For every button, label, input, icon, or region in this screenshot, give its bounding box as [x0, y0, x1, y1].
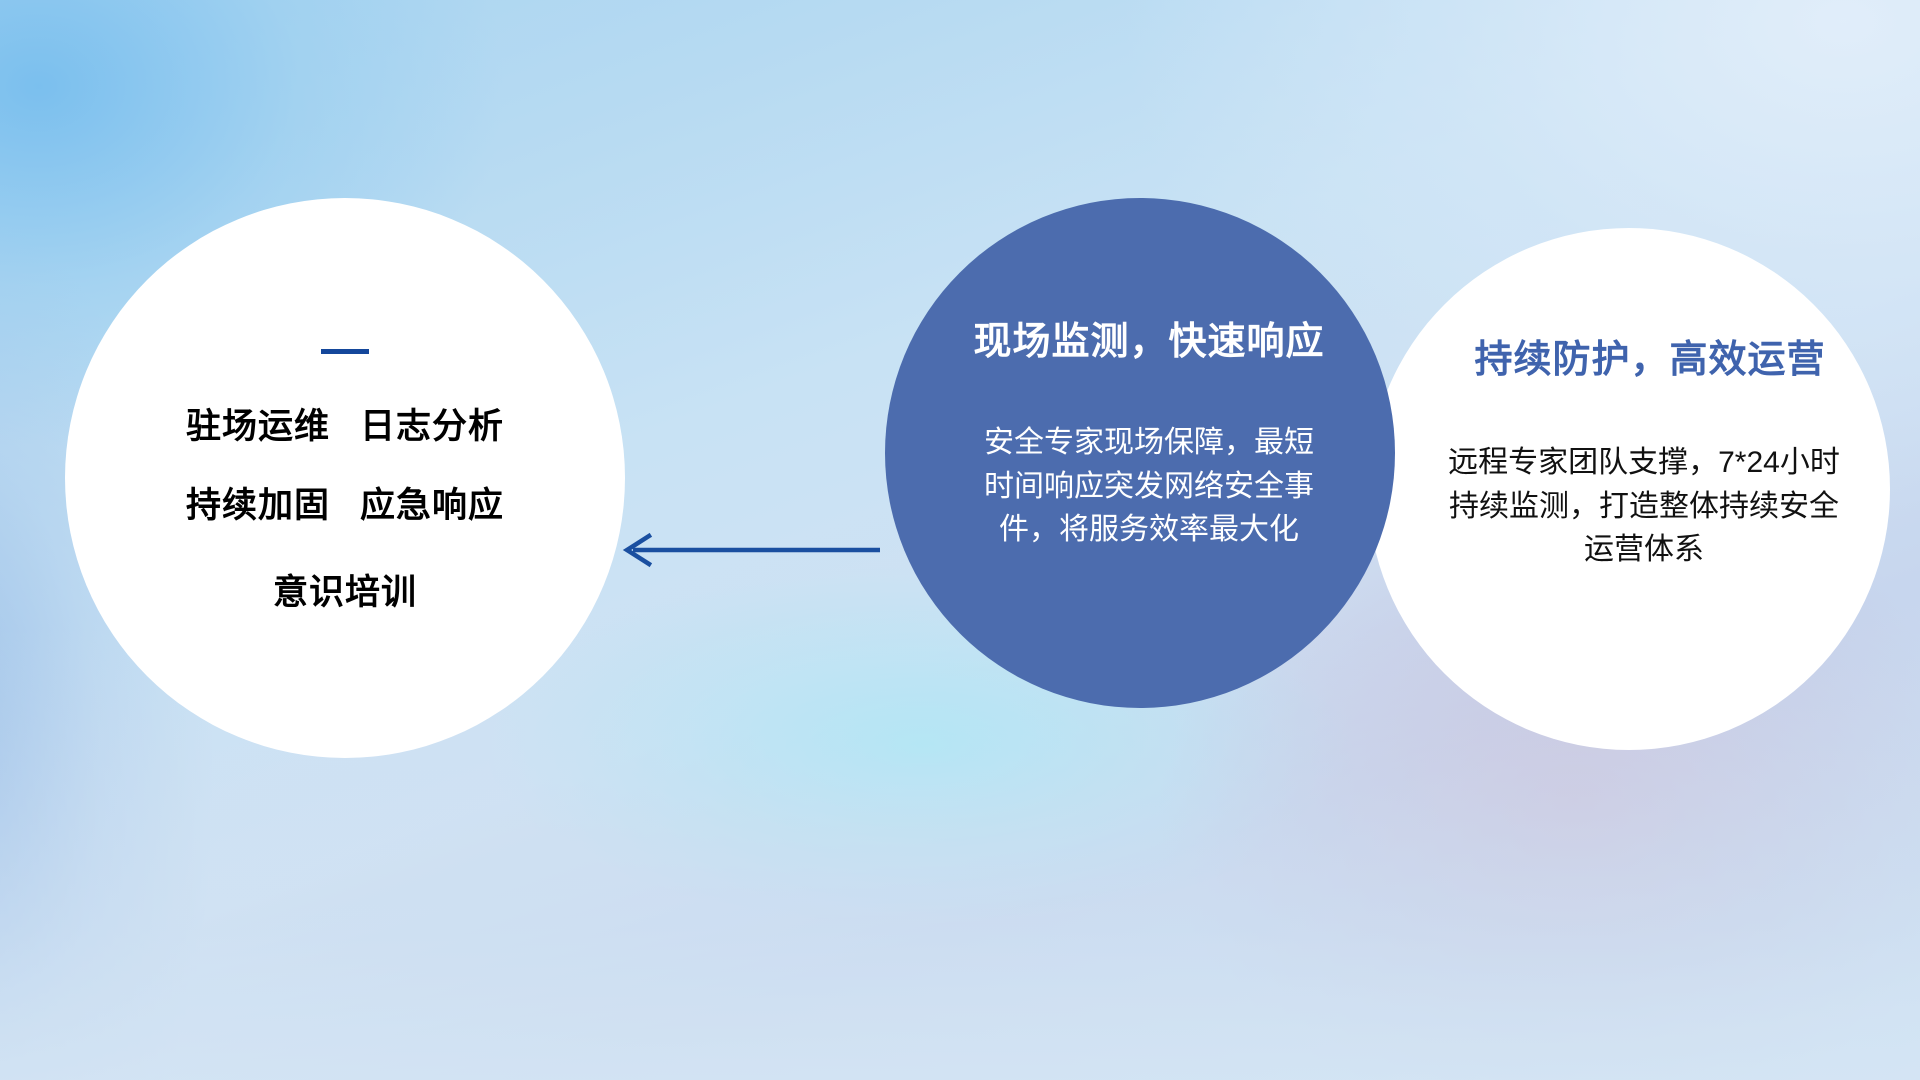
- left-circle-content: 驻场运维 日志分析 持续加固 应急响应 意识培训: [65, 198, 625, 758]
- right-circle-body: 远程专家团队支撑，7*24小时持续监测，打造整体持续安全运营体系: [1439, 441, 1849, 572]
- keyword-item: 应急响应: [360, 477, 504, 528]
- middle-circle-title: 现场监测，快速响应: [973, 310, 1324, 365]
- keyword-item: 日志分析: [360, 398, 504, 449]
- arrow-left-icon: [615, 530, 880, 570]
- middle-monitoring-circle[interactable]: 现场监测，快速响应 安全专家现场保障，最短时间响应突发网络安全事件，将服务效率最…: [885, 198, 1395, 708]
- keyword-row: 意识培训: [273, 564, 417, 615]
- keyword-item: 驻场运维: [186, 398, 330, 449]
- right-circle-content: 持续防护，高效运营 远程专家团队支撑，7*24小时持续监测，打造整体持续安全运营…: [1368, 228, 1890, 750]
- divider-dash-icon: [321, 349, 369, 354]
- keyword-item: 持续加固: [186, 477, 330, 528]
- keyword-row: 驻场运维 日志分析: [186, 398, 504, 449]
- connector-arrow-left: [615, 530, 880, 570]
- slide-canvas: 驻场运维 日志分析 持续加固 应急响应 意识培训 持续防护，高效运营 远程专家团…: [0, 0, 1920, 1080]
- middle-circle-content: 现场监测，快速响应 安全专家现场保障，最短时间响应突发网络安全事件，将服务效率最…: [885, 198, 1395, 708]
- middle-circle-body: 安全专家现场保障，最短时间响应突发网络安全事件，将服务效率最大化: [984, 421, 1314, 552]
- keyword-item: 意识培训: [273, 564, 417, 615]
- left-keywords-circle[interactable]: 驻场运维 日志分析 持续加固 应急响应 意识培训: [65, 198, 625, 758]
- right-operations-circle[interactable]: 持续防护，高效运营 远程专家团队支撑，7*24小时持续监测，打造整体持续安全运营…: [1368, 228, 1890, 750]
- keyword-row: 持续加固 应急响应: [186, 477, 504, 528]
- right-circle-title: 持续防护，高效运营: [1474, 328, 1825, 383]
